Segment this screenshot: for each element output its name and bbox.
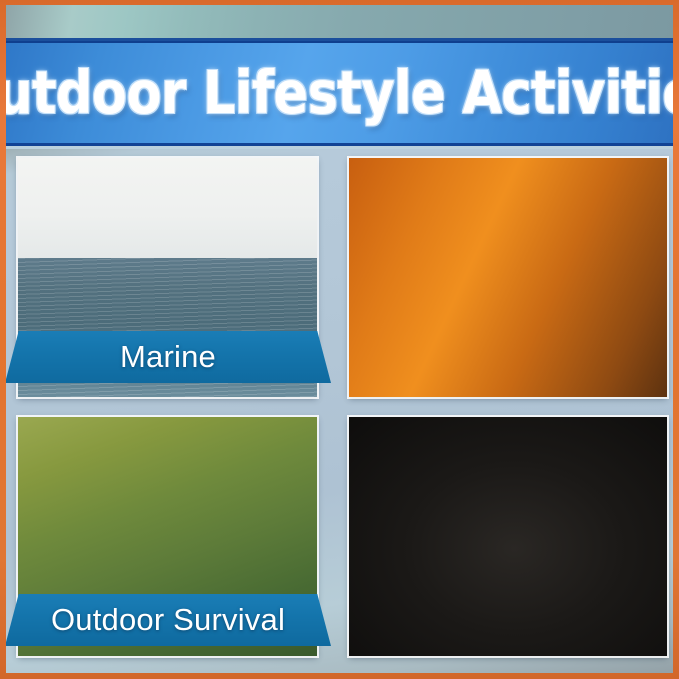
tent-fabric: [349, 158, 667, 397]
activity-grid: Marine: [6, 149, 673, 673]
poster-frame: Outdoor Lifestyle Activities: [0, 0, 679, 679]
marine-sky: [18, 158, 317, 261]
title-banner: Outdoor Lifestyle Activities: [6, 41, 673, 146]
scene-boots: [349, 417, 667, 656]
dark-background: [349, 417, 667, 656]
photo-gear: [349, 417, 667, 656]
activity-card-marine[interactable]: Marine: [18, 158, 317, 397]
scene-tent: [349, 158, 667, 397]
top-gradient-strip: [6, 5, 673, 41]
activity-card-gear[interactable]: Gear Repair: [349, 417, 667, 656]
page-title: Outdoor Lifestyle Activities: [6, 64, 673, 123]
card-label-survival: Outdoor Survival: [6, 594, 331, 646]
poster-inner: Outdoor Lifestyle Activities: [6, 5, 673, 673]
activity-card-survival[interactable]: Outdoor Survival: [18, 417, 317, 656]
photo-camping: [349, 158, 667, 397]
activity-card-camping[interactable]: Camping: [349, 158, 667, 397]
card-label-marine: Marine: [6, 331, 331, 383]
